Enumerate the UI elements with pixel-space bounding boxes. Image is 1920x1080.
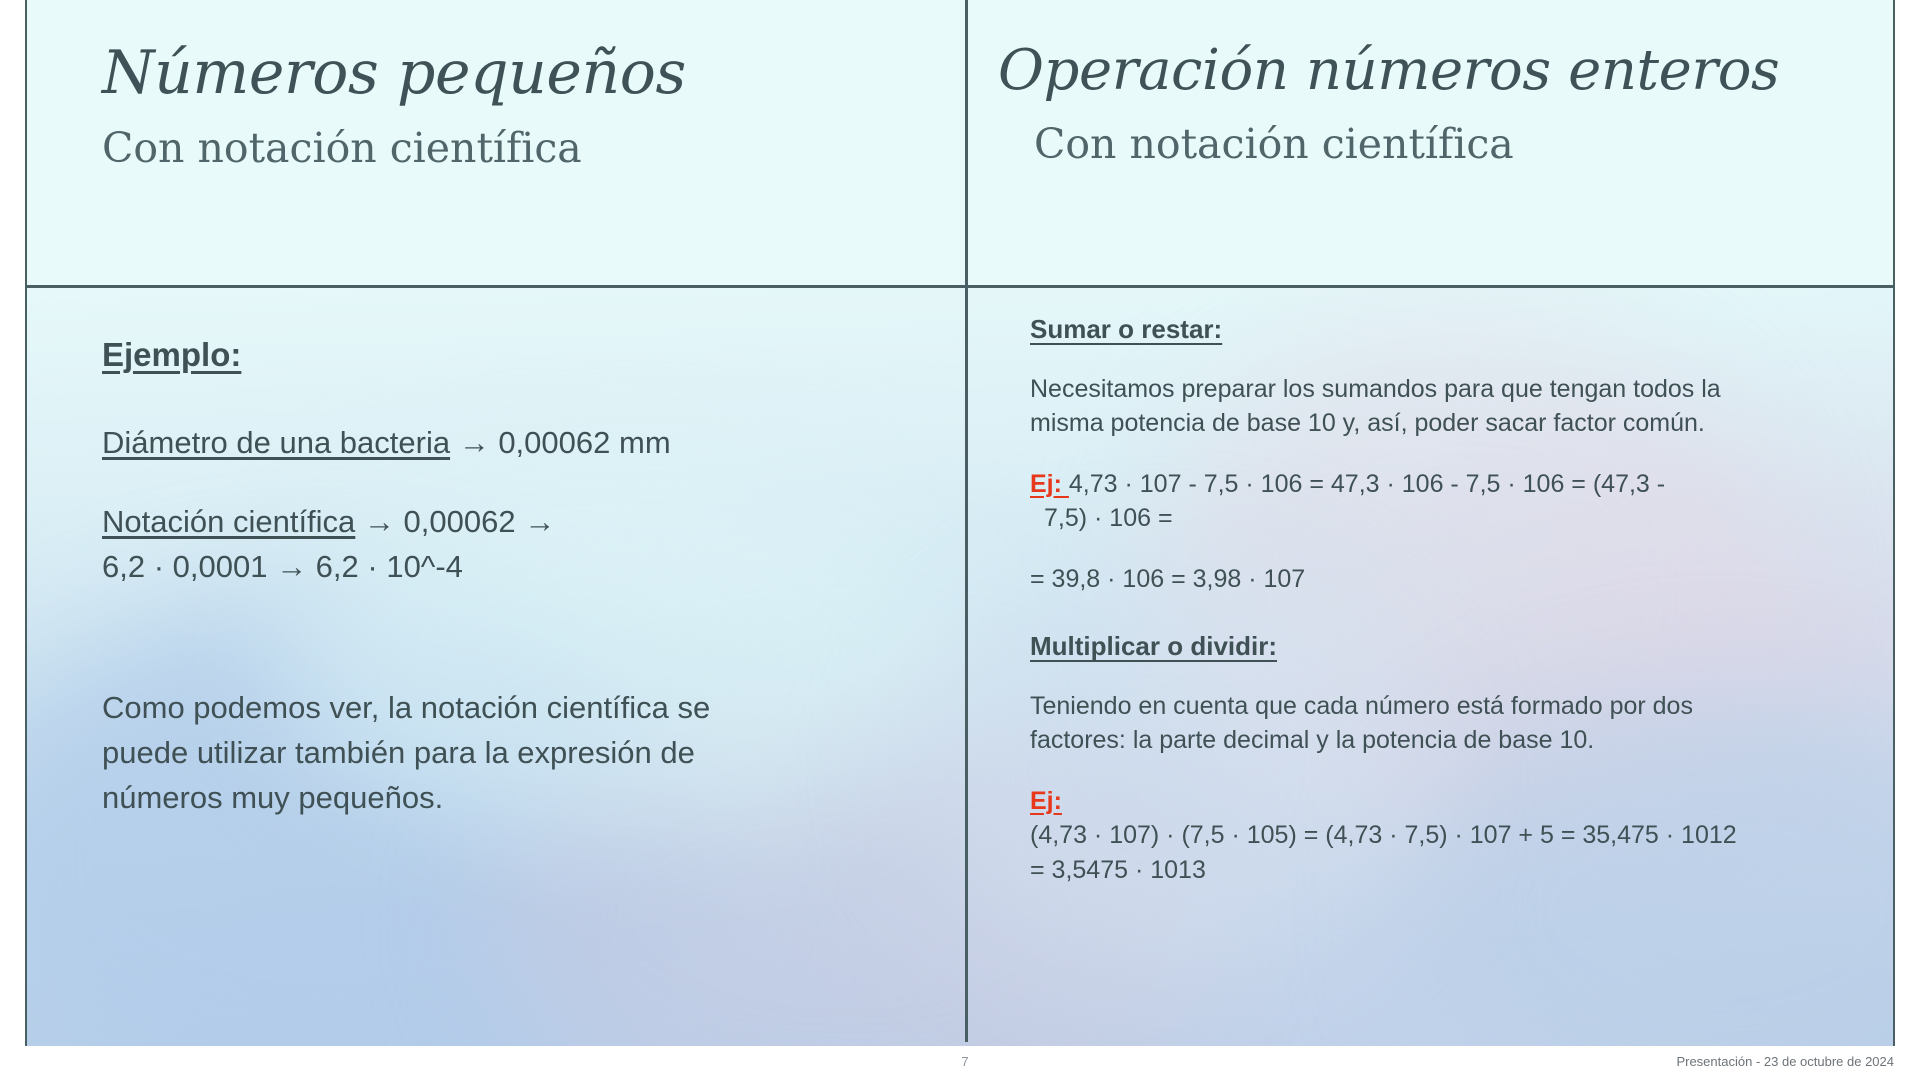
scientific-notation-line: Notación científica → 0,00062 →: [102, 500, 915, 545]
example-tag: Ej:: [1030, 787, 1062, 815]
spacer: [1030, 536, 1847, 562]
spacer: [102, 466, 915, 500]
spacer: [102, 590, 915, 686]
slide-root: Números pequeños Con notación científica…: [0, 0, 1920, 1080]
add-subtract-paragraph: Necesitamos preparar los sumandos para q…: [1030, 372, 1770, 441]
footer-note: Presentación - 23 de octubre de 2024: [1676, 1054, 1894, 1069]
bacteria-diameter-label: Diámetro de una bacteria: [102, 425, 450, 460]
left-slide-title: Números pequeños: [102, 40, 925, 107]
add-subtract-example-body: 4,73 · 107 - 7,5 · 106 = 47,3 · 106 - 7,…: [1069, 470, 1665, 498]
slide-footer: 7 Presentación - 23 de octubre de 2024: [0, 1046, 1920, 1080]
bacteria-diameter-line: Diámetro de una bacteria → 0,00062 mm: [102, 421, 915, 466]
add-subtract-heading: Sumar o restar:: [1030, 313, 1847, 346]
add-subtract-example-line1: Ej: 4,73 · 107 - 7,5 · 106 = 47,3 · 106 …: [1030, 467, 1730, 502]
spacer: [102, 375, 915, 421]
left-conclusion-paragraph: Como podemos ver, la notación científica…: [102, 686, 742, 821]
slide-canvas: Números pequeños Con notación científica…: [25, 0, 1895, 1046]
spacer: [1030, 663, 1847, 689]
right-header-cell: Operación números enteros Con notación c…: [968, 0, 1895, 288]
spacer: [1030, 346, 1847, 372]
add-subtract-example-line2: 7,5) · 106 =: [1030, 501, 1847, 536]
multiply-divide-heading: Multiplicar o dividir:: [1030, 630, 1847, 663]
scientific-notation-continuation: 6,2 · 0,0001 → 6,2 · 10^-4: [102, 545, 915, 590]
spacer: [1030, 596, 1847, 630]
right-body-cell: Sumar o restar: Necesitamos preparar los…: [968, 288, 1895, 1046]
right-slide-subtitle: Con notación científica: [1034, 121, 1867, 168]
bacteria-diameter-value: → 0,00062 mm: [450, 425, 671, 460]
scientific-notation-value: → 0,00062 →: [355, 504, 555, 539]
page-number: 7: [940, 1054, 990, 1069]
left-example-heading: Ejemplo:: [102, 334, 915, 375]
right-slide-title: Operación números enteros: [998, 40, 1867, 103]
multiply-divide-example-line1: (4,73 · 107) · (7,5 · 105) = (4,73 · 7,5…: [1030, 818, 1847, 853]
spacer: [1030, 441, 1847, 467]
left-header-cell: Números pequeños Con notación científica: [27, 0, 965, 288]
multiply-divide-example-tag-line: Ej:: [1030, 784, 1847, 819]
multiply-divide-example-line2: = 3,5475 · 1013: [1030, 853, 1847, 888]
left-body-cell: Ejemplo: Diámetro de una bacteria → 0,00…: [27, 288, 965, 1046]
example-tag: Ej:: [1030, 470, 1069, 498]
add-subtract-example-line3: = 39,8 · 106 = 3,98 · 107: [1030, 562, 1847, 597]
spacer: [1030, 758, 1847, 784]
scientific-notation-label: Notación científica: [102, 504, 355, 539]
left-slide-subtitle: Con notación científica: [102, 125, 925, 172]
multiply-divide-paragraph: Teniendo en cuenta que cada número está …: [1030, 689, 1730, 758]
